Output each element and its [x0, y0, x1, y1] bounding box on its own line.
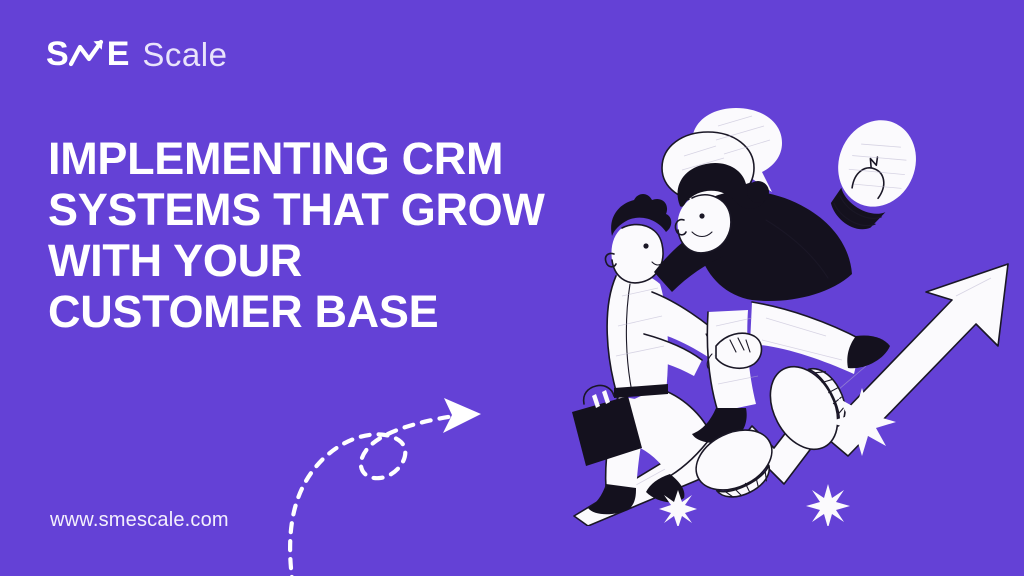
- headline-line-1: IMPLEMENTING CRM: [48, 134, 593, 185]
- logo-letter-e: E: [107, 37, 130, 71]
- hero-illustration: .wh { fill:#FBFAFD; } .bk { fill:#14111E…: [566, 96, 1024, 526]
- logo-sme-wordmark: S E: [46, 37, 129, 71]
- logo-scale-word: Scale: [142, 38, 227, 71]
- brand-logo[interactable]: S E Scale: [46, 33, 227, 75]
- growth-arrow-letter-m-icon: [68, 37, 108, 71]
- headline-line-3: WITH YOUR: [48, 236, 593, 287]
- page-title: IMPLEMENTING CRM SYSTEMS THAT GROW WITH …: [48, 134, 593, 337]
- website-url[interactable]: www.smescale.com: [50, 509, 229, 532]
- promotional-banner: S E Scale IMPLEMENTING CRM SYSTEMS THAT …: [0, 0, 1024, 576]
- logo-letter-s: S: [46, 37, 69, 71]
- dashed-loop-arrow-icon: [276, 386, 536, 576]
- headline-line-4: CUSTOMER BASE: [48, 287, 593, 338]
- headline-line-2: SYSTEMS THAT GROW: [48, 185, 593, 236]
- lightbulb-icon: [816, 108, 929, 241]
